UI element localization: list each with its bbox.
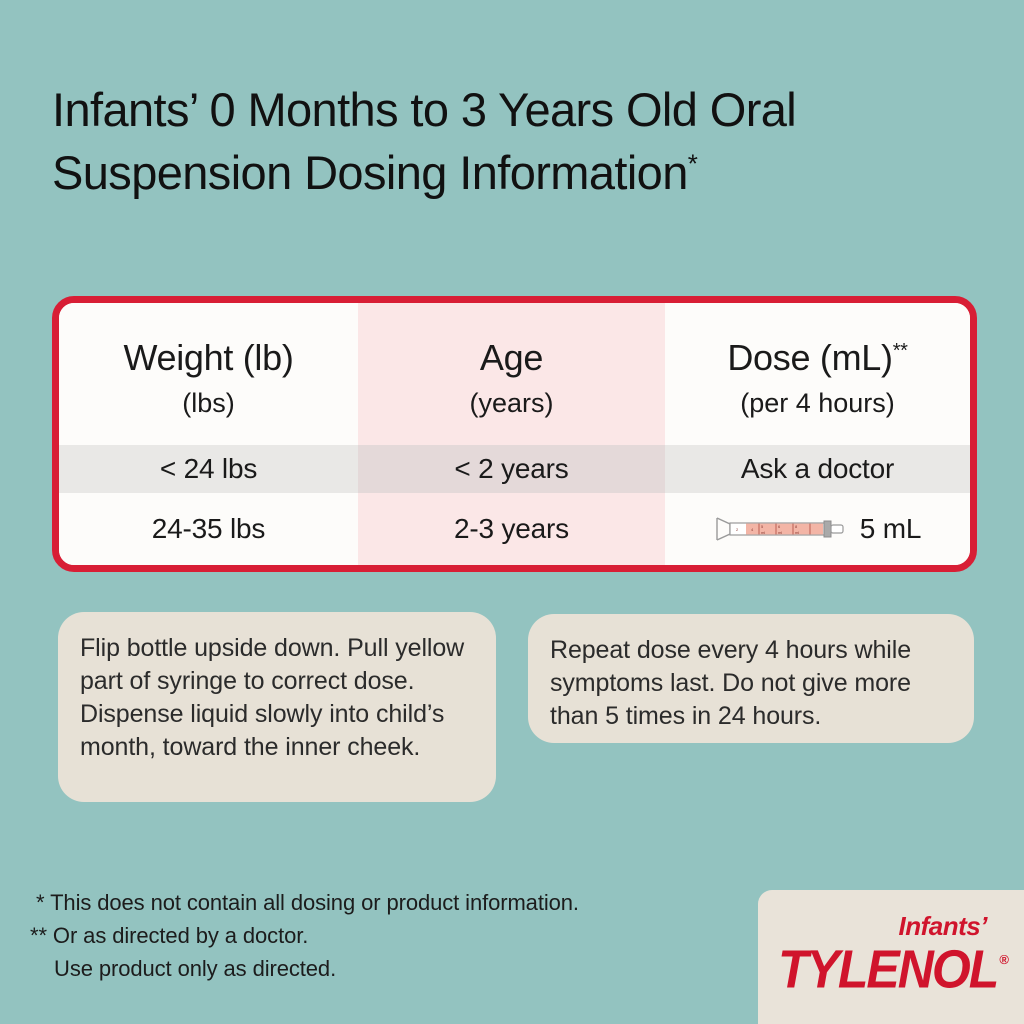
svg-text:ml: ml	[778, 530, 782, 535]
column-header-age-title: Age	[480, 335, 543, 381]
footnote-use-as-directed: Use product only as directed.	[30, 952, 710, 985]
brand-logo-name: TYLENOL	[778, 940, 997, 998]
table-row: 24-35 lbs 2-3 years	[59, 493, 970, 565]
syringe-icon: 2 4 5 ml 6 ml 8 ml	[714, 515, 846, 543]
page-title-line-2-text: Suspension Dosing Information	[52, 146, 688, 199]
brand-logo-card: Infants’ TYLENOL ®	[758, 890, 1024, 1024]
cell-age: 2-3 years	[358, 493, 665, 565]
brand-logo-name-row: TYLENOL ®	[778, 940, 1023, 994]
cell-weight: 24-35 lbs	[59, 493, 358, 565]
dosing-table: Weight (lb) (lbs) Age (years) Dose (mL)*…	[52, 296, 977, 572]
svg-text:ml: ml	[761, 530, 765, 535]
page-title-line-2: Suspension Dosing Information*	[52, 141, 982, 204]
footnote-double-asterisk: ** Or as directed by a doctor.	[30, 919, 710, 952]
cell-dose-value: 5 mL	[860, 512, 921, 546]
brand-logo: Infants’ TYLENOL ®	[778, 912, 1023, 994]
column-header-dose-text: Dose (mL)	[727, 337, 892, 378]
column-header-dose-subtitle: (per 4 hours)	[740, 385, 895, 421]
svg-text:ml: ml	[795, 530, 799, 535]
registered-trademark-icon: ®	[999, 952, 1009, 967]
instruction-box-frequency-text: Repeat dose every 4 hours while symptoms…	[550, 634, 948, 733]
column-header-dose: Dose (mL)** (per 4 hours)	[665, 311, 970, 445]
column-header-dose-asterisks: **	[893, 340, 908, 362]
page-title-asterisk: *	[688, 148, 698, 178]
column-header-age-subtitle: (years)	[469, 385, 553, 421]
cell-dose: Ask a doctor	[665, 445, 970, 493]
column-header-age: Age (years)	[358, 311, 665, 445]
brand-logo-prefix: Infants’	[778, 912, 1023, 940]
column-header-weight-subtitle: (lbs)	[182, 385, 235, 421]
instruction-box-administration: Flip bottle upside down. Pull yellow par…	[58, 612, 496, 802]
page-title: Infants’ 0 Months to 3 Years Old Oral Su…	[52, 78, 982, 204]
cell-weight: < 24 lbs	[59, 445, 358, 493]
table-header-row: Weight (lb) (lbs) Age (years) Dose (mL)*…	[59, 303, 970, 445]
column-header-weight-title: Weight (lb)	[123, 335, 293, 381]
footnote-single-asterisk: * This does not contain all dosing or pr…	[30, 886, 710, 919]
column-header-dose-title: Dose (mL)**	[727, 335, 907, 381]
page-title-line-1: Infants’ 0 Months to 3 Years Old Oral	[52, 78, 982, 141]
dosing-table-body: Weight (lb) (lbs) Age (years) Dose (mL)*…	[59, 303, 970, 565]
cell-age: < 2 years	[358, 445, 665, 493]
instruction-box-administration-text: Flip bottle upside down. Pull yellow par…	[80, 632, 470, 764]
instruction-box-frequency: Repeat dose every 4 hours while symptoms…	[528, 614, 974, 743]
table-row: < 24 lbs < 2 years Ask a doctor	[59, 445, 970, 493]
column-header-weight: Weight (lb) (lbs)	[59, 311, 358, 445]
footnotes: * This does not contain all dosing or pr…	[30, 886, 710, 985]
cell-dose-with-syringe: 2 4 5 ml 6 ml 8 ml	[665, 493, 970, 565]
